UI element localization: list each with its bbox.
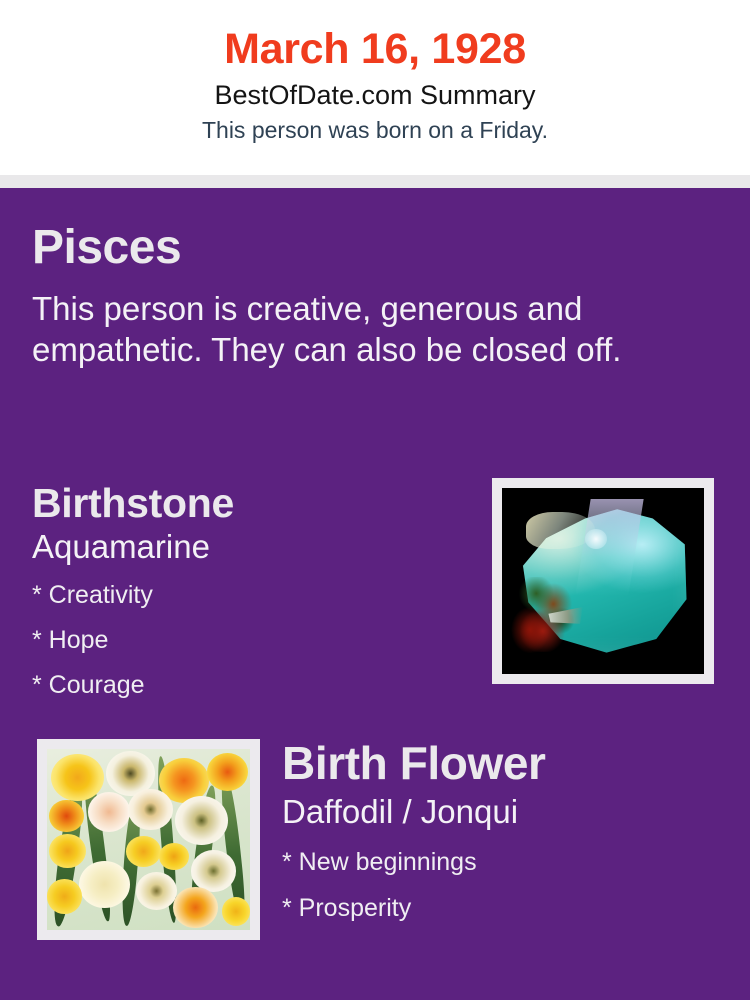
zodiac-description: This person is creative, generous and em… [32, 288, 704, 370]
birthstone-trait-list: * Creativity * Hope * Courage [32, 573, 472, 708]
born-day-text: This person was born on a Friday. [0, 115, 750, 145]
birthstone-name: Aquamarine [32, 527, 472, 567]
daffodil-bloom [49, 834, 86, 868]
card-header: March 16, 1928 BestOfDate.com Summary Th… [0, 0, 750, 175]
list-item: * Courage [32, 663, 472, 708]
site-summary-subtitle: BestOfDate.com Summary [0, 77, 750, 113]
daffodil-bloom [126, 836, 161, 867]
birthstone-heading: Birthstone [32, 478, 472, 528]
daffodil-bloom [173, 887, 218, 929]
birth-flower-image-frame [37, 739, 260, 940]
daffodil-bloom [191, 850, 236, 892]
daffodil-bloom [207, 753, 248, 791]
page-title-date: March 16, 1928 [0, 24, 750, 74]
list-item: * Creativity [32, 573, 472, 618]
daffodil-bloom [128, 789, 173, 831]
list-item: * Prosperity [282, 885, 712, 931]
daffodil-bloom [88, 792, 131, 832]
header-divider [0, 175, 750, 188]
list-item: * New beginnings [282, 839, 712, 885]
birthstone-image-frame [492, 478, 714, 684]
daffodil-bloom [136, 872, 177, 910]
birthday-summary-card: March 16, 1928 BestOfDate.com Summary Th… [0, 0, 750, 1000]
daffodil-bloom [175, 796, 228, 845]
birth-flower-section: Birth Flower Daffodil / Jonqui * New beg… [282, 736, 712, 931]
daffodil-bloom [47, 879, 82, 913]
birth-flower-trait-list: * New beginnings * Prosperity [282, 839, 712, 931]
birth-flower-heading: Birth Flower [282, 736, 712, 791]
daffodil-bloom [49, 800, 84, 833]
daffodil-bloom [222, 897, 250, 926]
daffodil-field-photo [47, 749, 250, 930]
zodiac-sign-title: Pisces [32, 220, 181, 276]
birthstone-section: Birthstone Aquamarine * Creativity * Hop… [32, 478, 472, 708]
daffodil-bloom [51, 754, 104, 801]
crystal-inclusion-shape [510, 603, 554, 663]
aquamarine-crystal-photo [502, 488, 704, 674]
daffodil-bloom [159, 843, 189, 870]
list-item: * Hope [32, 618, 472, 663]
birth-flower-name: Daffodil / Jonqui [282, 792, 712, 832]
